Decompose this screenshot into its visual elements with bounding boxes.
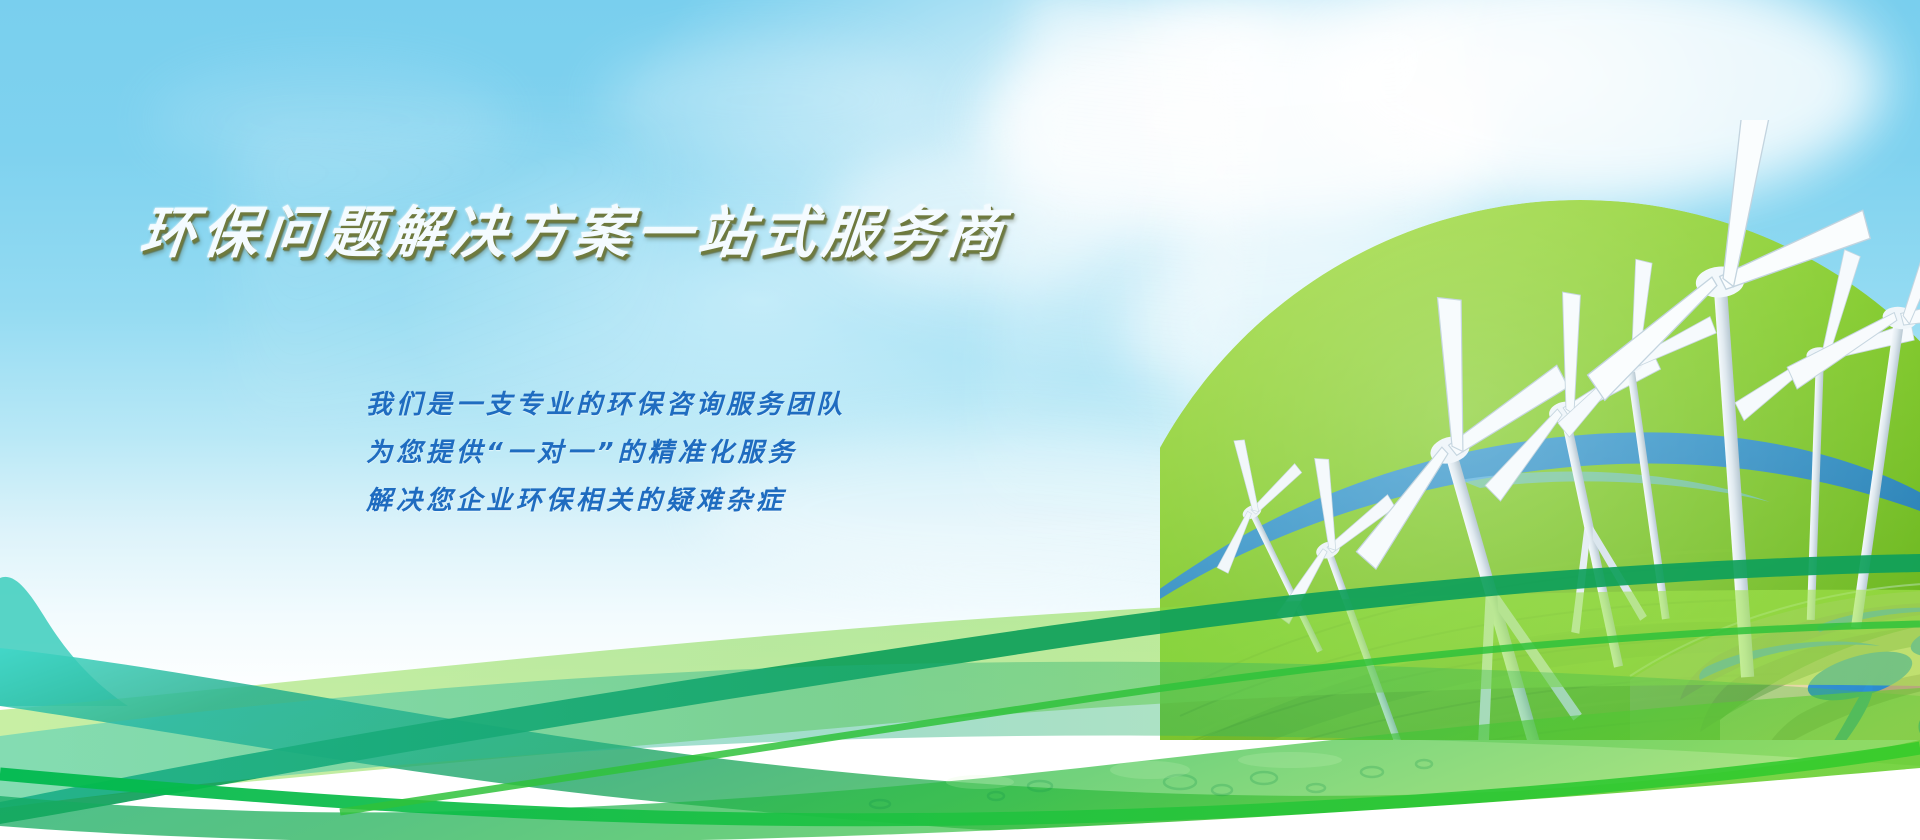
wave-base-white [0,768,1920,840]
water-foam-texture [946,752,1342,789]
wave-crest-stroke [0,748,1920,820]
green-earth-globe [1160,120,1920,740]
eco-hero-banner: 环保问题解决方案一站式服务商 我们是一支专业的环保咨询服务团队 为您提供“一对一… [0,0,1920,840]
water-bubble-texture [870,760,1432,808]
